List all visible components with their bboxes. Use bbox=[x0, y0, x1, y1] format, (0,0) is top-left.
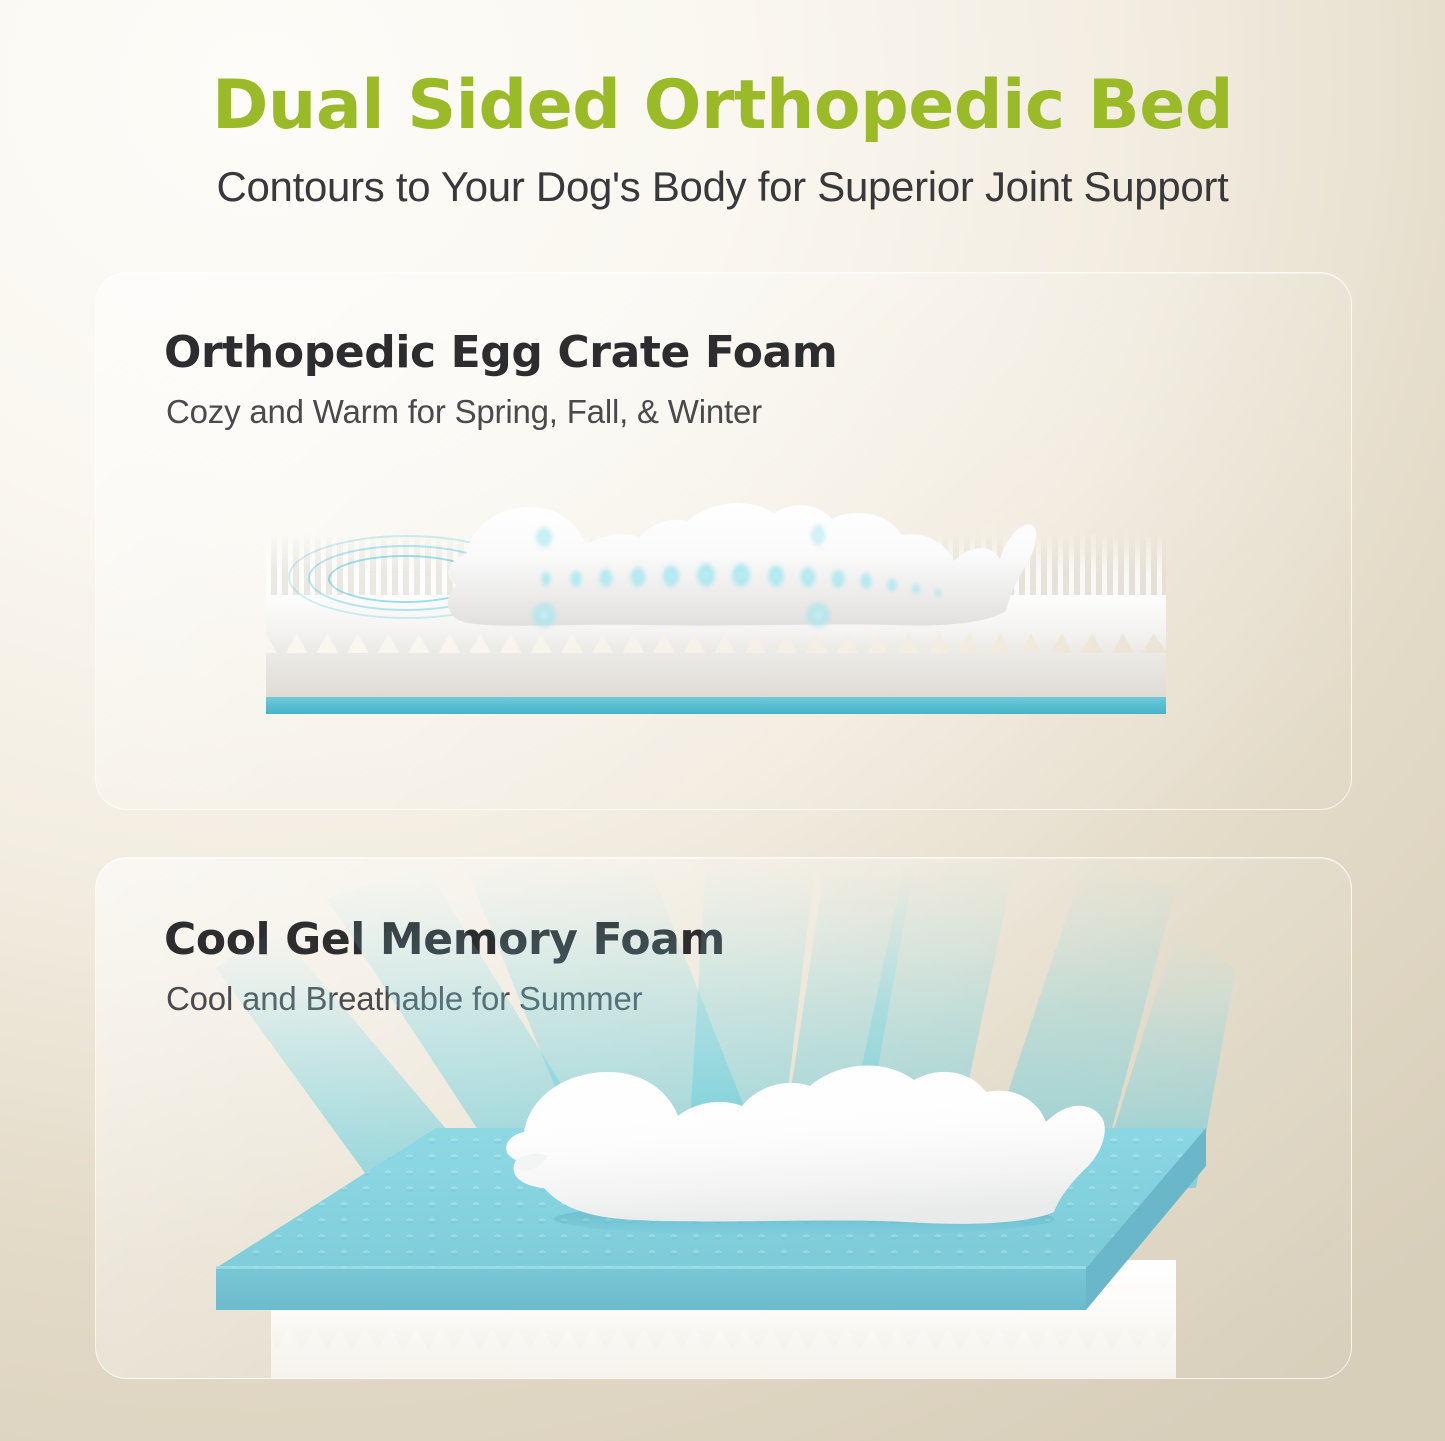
dog-silhouette-resting bbox=[486, 1036, 1116, 1246]
foam-teal-base-strip bbox=[266, 697, 1166, 714]
foam-body bbox=[266, 653, 1166, 699]
cool-gel-foam-illustration bbox=[96, 858, 1351, 1378]
feature-card-cool-gel-memory-foam: Cool Gel Memory Foam Cool and Breathable… bbox=[95, 857, 1352, 1379]
dog-silhouette-sinking bbox=[426, 473, 1046, 643]
feature-card-egg-crate-foam: Orthopedic Egg Crate Foam Cozy and Warm … bbox=[95, 272, 1352, 810]
header: Dual Sided Orthopedic Bed Contours to Yo… bbox=[0, 0, 1445, 211]
egg-crate-foam-illustration bbox=[96, 273, 1351, 809]
page-subtitle: Contours to Your Dog's Body for Superior… bbox=[0, 145, 1445, 211]
page-title: Dual Sided Orthopedic Bed bbox=[0, 0, 1445, 145]
